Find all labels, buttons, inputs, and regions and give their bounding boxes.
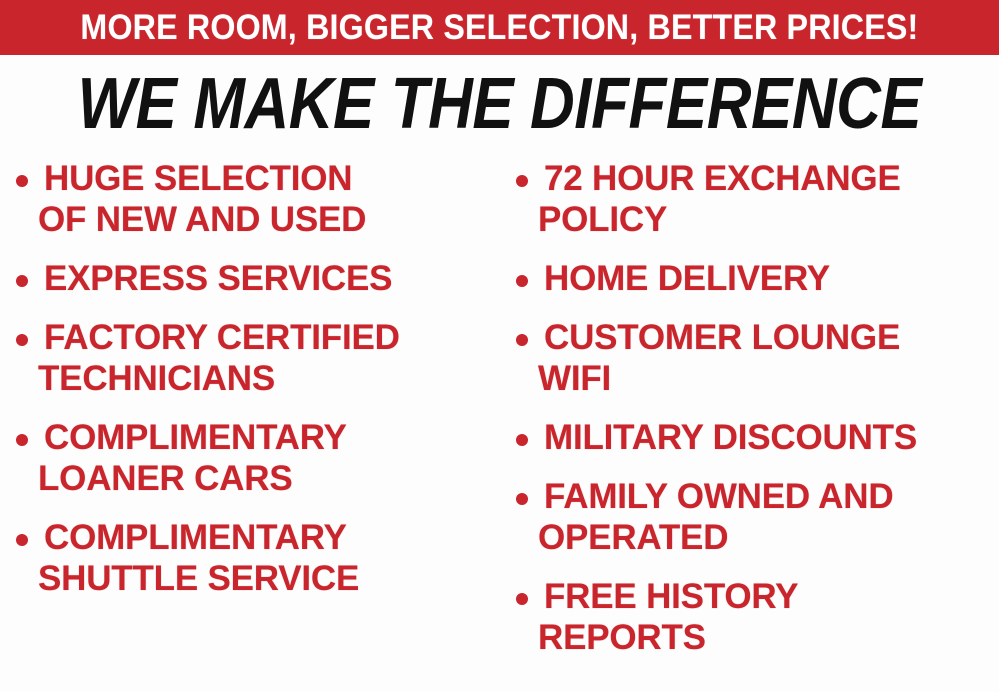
list-item: FACTORY CERTIFIED TECHNICIANS	[16, 317, 496, 399]
list-item-line-1: EXPRESS SERVICES	[44, 259, 392, 298]
list-item: COMPLIMENTARY LOANER CARS	[16, 417, 496, 499]
bullet-icon	[516, 275, 528, 287]
list-item: HOME DELIVERY	[516, 258, 999, 299]
bullet-icon	[516, 493, 528, 505]
list-item-line-2: REPORTS	[538, 617, 999, 658]
list-item-line-2: POLICY	[538, 199, 999, 240]
list-item-label: HOME DELIVERY	[544, 258, 999, 299]
benefits-column-right: 72 HOUR EXCHANGE POLICY HOME DELIVERY CU…	[516, 158, 999, 676]
promo-banner: MORE ROOM, BIGGER SELECTION, BETTER PRIC…	[0, 0, 999, 55]
list-item-line-1: HOME DELIVERY	[544, 259, 830, 298]
list-item-label: FAMILY OWNED AND OPERATED	[544, 476, 999, 558]
headline-text: WE MAKE THE DIFFERENCE	[78, 68, 922, 140]
list-item-line-2: WIFI	[538, 358, 999, 399]
list-item-label: FACTORY CERTIFIED TECHNICIANS	[44, 317, 496, 399]
list-item-label: COMPLIMENTARY LOANER CARS	[44, 417, 496, 499]
benefits-columns: HUGE SELECTION OF NEW AND USED EXPRESS S…	[0, 158, 999, 692]
list-item-line-1: FREE HISTORY	[544, 577, 798, 616]
list-item-line-1: FAMILY OWNED AND	[544, 477, 893, 516]
list-item-label: EXPRESS SERVICES	[44, 258, 496, 299]
list-item-line-1: COMPLIMENTARY	[44, 518, 347, 557]
bullet-icon	[16, 434, 28, 446]
list-item-line-2: LOANER CARS	[38, 458, 496, 499]
advertisement-banner: MORE ROOM, BIGGER SELECTION, BETTER PRIC…	[0, 0, 999, 692]
list-item: 72 HOUR EXCHANGE POLICY	[516, 158, 999, 240]
benefits-column-left: HUGE SELECTION OF NEW AND USED EXPRESS S…	[16, 158, 496, 617]
bullet-icon	[516, 334, 528, 346]
bullet-icon	[16, 175, 28, 187]
bullet-icon	[516, 175, 528, 187]
list-item-line-1: HUGE SELECTION	[44, 159, 352, 198]
list-item-label: FREE HISTORY REPORTS	[544, 576, 999, 658]
list-item: COMPLIMENTARY SHUTTLE SERVICE	[16, 517, 496, 599]
bullet-icon	[516, 593, 528, 605]
list-item-line-2: TECHNICIANS	[38, 358, 496, 399]
list-item-label: COMPLIMENTARY SHUTTLE SERVICE	[44, 517, 496, 599]
list-item-line-1: FACTORY CERTIFIED	[44, 318, 400, 357]
bullet-icon	[516, 434, 528, 446]
list-item-line-1: CUSTOMER LOUNGE	[544, 318, 900, 357]
list-item: HUGE SELECTION OF NEW AND USED	[16, 158, 496, 240]
list-item-line-2: OF NEW AND USED	[38, 199, 496, 240]
list-item: FAMILY OWNED AND OPERATED	[516, 476, 999, 558]
bullet-icon	[16, 275, 28, 287]
list-item-line-1: MILITARY DISCOUNTS	[544, 418, 917, 457]
list-item-line-1: 72 HOUR EXCHANGE	[544, 159, 901, 198]
list-item-line-1: COMPLIMENTARY	[44, 418, 347, 457]
list-item-line-2: OPERATED	[538, 517, 999, 558]
list-item: FREE HISTORY REPORTS	[516, 576, 999, 658]
bullet-icon	[16, 534, 28, 546]
list-item: EXPRESS SERVICES	[16, 258, 496, 299]
list-item-label: HUGE SELECTION OF NEW AND USED	[44, 158, 496, 240]
list-item-label: MILITARY DISCOUNTS	[544, 417, 999, 458]
bullet-icon	[16, 334, 28, 346]
headline: WE MAKE THE DIFFERENCE	[0, 68, 999, 140]
list-item-label: 72 HOUR EXCHANGE POLICY	[544, 158, 999, 240]
list-item: CUSTOMER LOUNGE WIFI	[516, 317, 999, 399]
list-item: MILITARY DISCOUNTS	[516, 417, 999, 458]
list-item-label: CUSTOMER LOUNGE WIFI	[544, 317, 999, 399]
promo-banner-text: MORE ROOM, BIGGER SELECTION, BETTER PRIC…	[80, 10, 918, 45]
list-item-line-2: SHUTTLE SERVICE	[38, 558, 496, 599]
